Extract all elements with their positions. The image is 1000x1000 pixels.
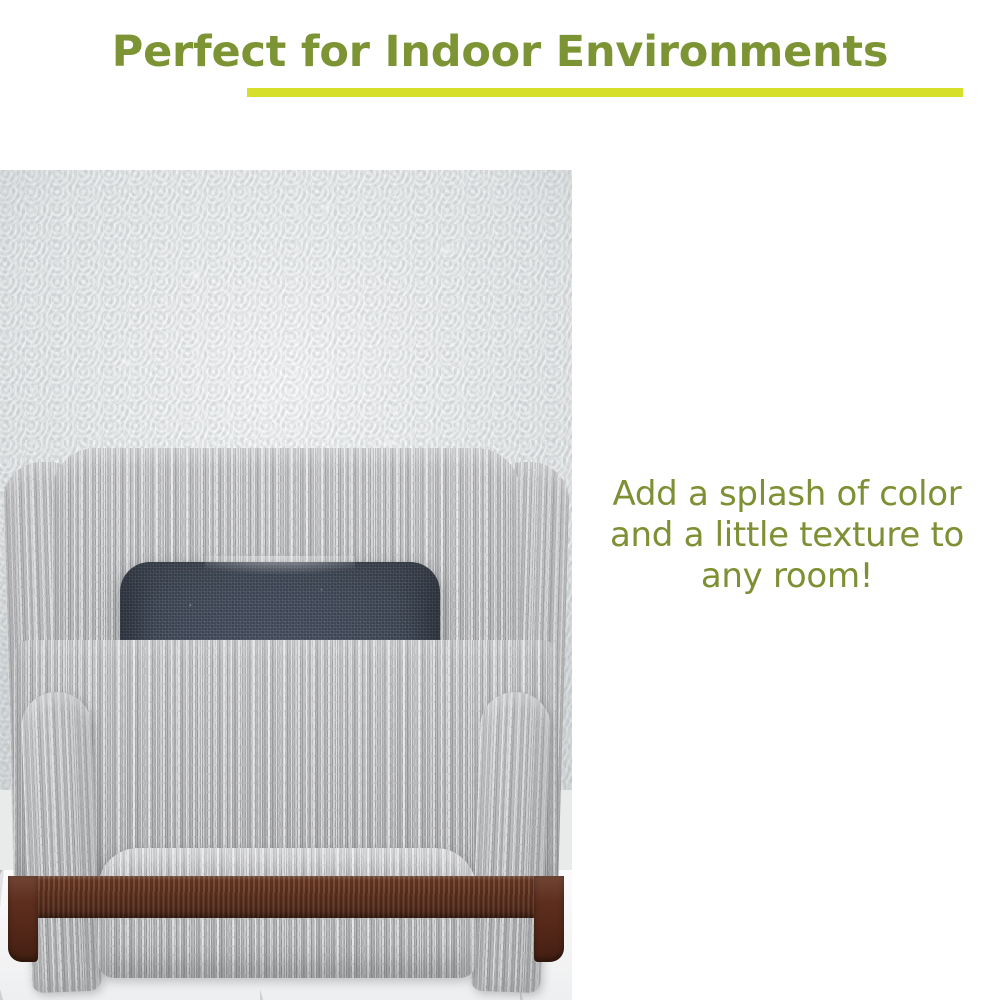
tagline-block: Add a splash of color and a little textu… <box>578 474 996 597</box>
armchair <box>0 170 572 1000</box>
chair-wood-leg-right <box>534 876 564 962</box>
chair-wood-leg-left <box>8 876 38 962</box>
page-title: Perfect for Indoor Environments <box>110 28 891 76</box>
chair-wood-base-rail <box>8 876 564 918</box>
tagline-line-3: any room! <box>578 556 996 597</box>
tagline-line-1: Add a splash of color <box>578 474 996 515</box>
product-marketing-page: Perfect for Indoor Environments Add a <box>0 0 1000 1000</box>
tagline-line-2: and a little texture to <box>578 515 996 556</box>
title-underline-rule <box>247 88 963 97</box>
lifestyle-photo <box>0 170 572 1000</box>
header-block: Perfect for Indoor Environments <box>0 28 1000 76</box>
